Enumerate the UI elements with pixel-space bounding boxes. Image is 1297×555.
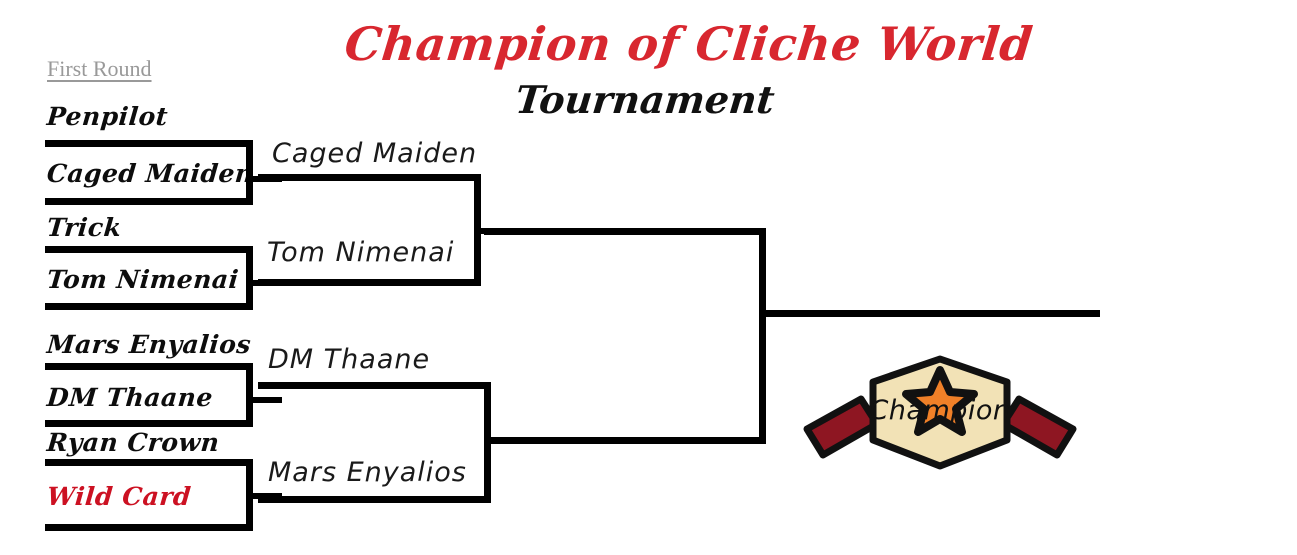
entrant-trick: Trick: [46, 214, 123, 242]
bracket-line-r2-m1-bottom: [258, 279, 480, 286]
bracket-line-r1-m3-bottom: [45, 420, 253, 427]
bracket-line-champion-rail: [759, 310, 1100, 317]
belt-strap-right: [1003, 399, 1073, 455]
bracket-line-r1-m3-vertical: [246, 363, 253, 427]
bracket-line-r1-m2-top: [45, 246, 253, 253]
page-title-main: Champion of Cliche World: [342, 18, 947, 70]
champion-belt: Champion: [795, 352, 1085, 472]
belt-strap-left: [807, 399, 877, 455]
bracket-line-final-top: [484, 228, 766, 235]
bracket-line-r1-m1-bottom: [45, 198, 253, 205]
entrant-dm-thaane: DM Thaane: [46, 384, 214, 412]
bracket-line-r1-m2-vertical: [246, 246, 253, 310]
bracket-line-r1-m3-top: [45, 363, 253, 370]
entrant-mars-enyalios: Mars Enyalios: [46, 331, 252, 359]
entrant-caged-maiden: Caged Maiden: [46, 160, 255, 188]
semifinalist-tom-nimenai: Tom Nimenai: [267, 238, 454, 268]
bracket-line-r2-m1-top: [258, 174, 480, 181]
semifinalist-dm-thaane: DM Thaane: [268, 345, 430, 375]
bracket-line-final-bottom: [484, 437, 766, 444]
entrant-tom-nimenai: Tom Nimenai: [46, 266, 240, 294]
round-label-first-round: First Round: [47, 56, 152, 82]
page-title-sub: Tournament: [343, 78, 948, 122]
bracket-line-r1-m2-bottom: [45, 303, 253, 310]
entrant-penpilot: Penpilot: [46, 103, 169, 131]
entrant-wild-card: Wild Card: [46, 483, 193, 511]
bracket-line-final-vertical: [759, 228, 766, 444]
bracket-line-r2-m2-top: [258, 382, 490, 389]
semifinalist-mars-enyalios: Mars Enyalios: [268, 458, 467, 488]
bracket-line-r1-m4-bottom: [45, 524, 253, 531]
bracket-connector-r1-m3: [250, 397, 282, 403]
bracket-line-r1-m1-vertical: [246, 140, 253, 205]
entrant-ryan-crown: Ryan Crown: [46, 429, 221, 457]
bracket-line-r2-m2-bottom: [258, 496, 490, 503]
tournament-bracket-canvas: Champion of Cliche World Tournament Firs…: [0, 0, 1297, 555]
bracket-line-r1-m1-top: [45, 140, 253, 147]
bracket-line-r1-m4-top: [45, 459, 253, 466]
semifinalist-caged-maiden: Caged Maiden: [272, 139, 477, 169]
